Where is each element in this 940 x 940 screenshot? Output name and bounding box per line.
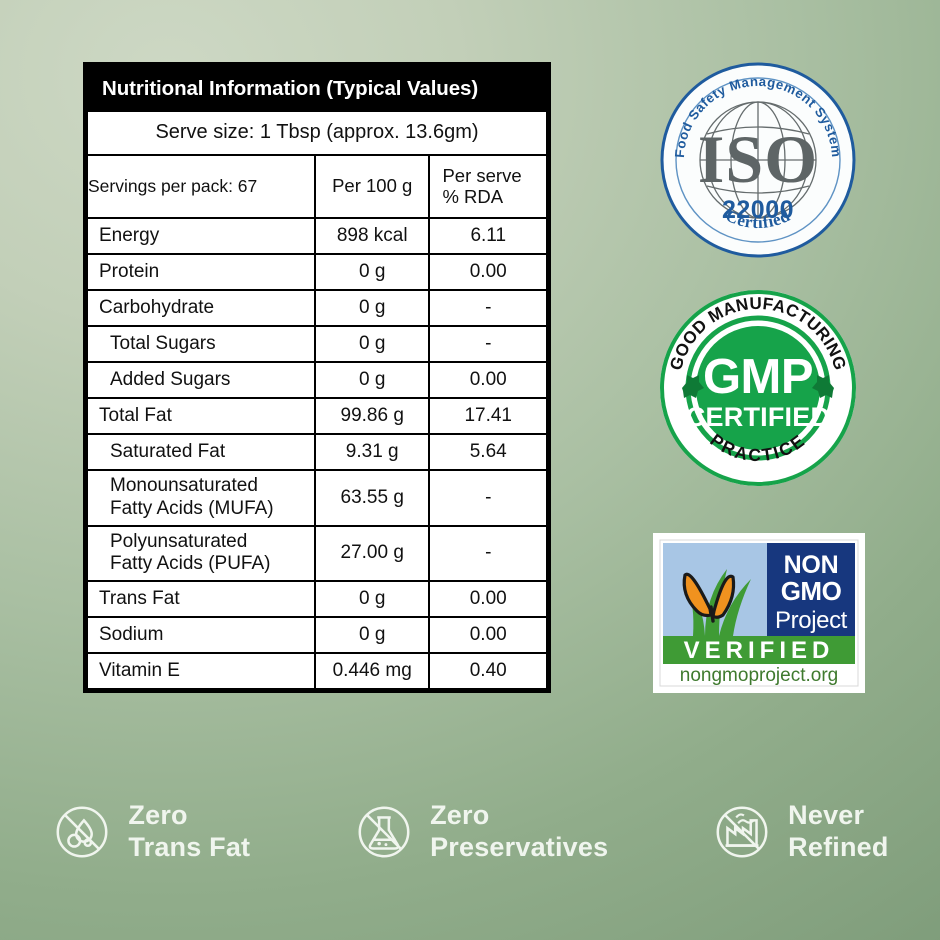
nutrient-per-100g: 9.31 g — [315, 434, 430, 470]
table-row: Sodium0 g0.00 — [88, 617, 546, 653]
nutrient-name: Polyunsaturated Fatty Acids (PUFA) — [88, 526, 315, 582]
nongmo-verified-text: VERIFIED — [684, 637, 835, 664]
nutrient-per-serve-rda: - — [429, 526, 546, 582]
feature-label: Never Refined — [788, 800, 888, 864]
gmp-center-bottom-text: CERTIFIED — [686, 402, 830, 432]
gmp-center-top-text: GMP — [703, 350, 813, 404]
nutrient-per-100g: 27.00 g — [315, 526, 430, 582]
table-row: Total Fat99.86 g17.41 — [88, 398, 546, 434]
nutrient-name: Saturated Fat — [88, 434, 315, 470]
nutrient-per-serve-rda: 5.64 — [429, 434, 546, 470]
feature-zero-trans-fat: Zero Trans Fat — [51, 800, 250, 864]
iso-center-text: ISO — [698, 121, 818, 197]
non-gmo-project-verified-badge: NON GMO Project VERIFIED nongmoproject.o… — [653, 533, 865, 693]
nutrient-per-100g: 0 g — [315, 581, 430, 617]
nutrient-per-100g: 898 kcal — [315, 218, 430, 254]
nutrient-name: Monounsaturated Fatty Acids (MUFA) — [88, 470, 315, 526]
nutrient-name: Vitamin E — [88, 653, 315, 688]
iso-22000-badge: Food Safety Management System ISO 22000 … — [658, 60, 858, 260]
nutrient-per-serve-rda: - — [429, 470, 546, 526]
nutrition-table-body: Servings per pack: 67 Per 100 g Per serv… — [88, 156, 546, 688]
nutrient-per-100g: 0 g — [315, 362, 430, 398]
nutrient-per-100g: 0 g — [315, 326, 430, 362]
nutrition-information-panel: Nutritional Information (Typical Values)… — [83, 62, 551, 693]
table-row: Total Sugars0 g- — [88, 326, 546, 362]
nutrient-per-serve-rda: 0.00 — [429, 617, 546, 653]
nutrient-name: Energy — [88, 218, 315, 254]
nutrient-per-serve-rda: 0.40 — [429, 653, 546, 688]
gmp-certified-badge: GOOD MANUFACTURING PRACTICE GMP CERTIFIE… — [658, 288, 858, 488]
nutrient-name: Sodium — [88, 617, 315, 653]
nongmo-line1: NON — [784, 551, 839, 579]
table-row: Carbohydrate0 g- — [88, 290, 546, 326]
column-header-servings: Servings per pack: 67 — [88, 156, 315, 218]
table-row: Polyunsaturated Fatty Acids (PUFA)27.00 … — [88, 526, 546, 582]
nutrient-name: Carbohydrate — [88, 290, 315, 326]
feature-label: Zero Trans Fat — [128, 800, 250, 864]
feature-zero-preservatives: Zero Preservatives — [353, 800, 608, 864]
feature-never-refined: Never Refined — [711, 800, 888, 864]
feature-label: Zero Preservatives — [430, 800, 608, 864]
table-row: Added Sugars0 g0.00 — [88, 362, 546, 398]
table-row: Trans Fat0 g0.00 — [88, 581, 546, 617]
nutrition-table: Servings per pack: 67 Per 100 g Per serv… — [88, 156, 546, 688]
nutrient-per-100g: 0 g — [315, 617, 430, 653]
nutrient-per-100g: 99.86 g — [315, 398, 430, 434]
nutrient-per-serve-rda: 0.00 — [429, 254, 546, 290]
nutrient-per-100g: 0 g — [315, 254, 430, 290]
nutrient-per-serve-rda: - — [429, 326, 546, 362]
never-refined-icon — [711, 801, 773, 863]
column-header-per-serve-rda: Per serve % RDA — [429, 156, 546, 218]
nutrient-per-100g: 0.446 mg — [315, 653, 430, 688]
nutrient-name: Added Sugars — [88, 362, 315, 398]
table-row: Vitamin E0.446 mg0.40 — [88, 653, 546, 688]
table-header-row: Servings per pack: 67 Per 100 g Per serv… — [88, 156, 546, 218]
nutrient-per-100g: 63.55 g — [315, 470, 430, 526]
nutrient-name: Total Sugars — [88, 326, 315, 362]
nutrient-per-serve-rda: - — [429, 290, 546, 326]
no-trans-fat-icon — [51, 801, 113, 863]
nutrient-per-100g: 0 g — [315, 290, 430, 326]
nutrient-name: Total Fat — [88, 398, 315, 434]
nongmo-line2: GMO — [781, 576, 842, 606]
column-header-per-100g: Per 100 g — [315, 156, 430, 218]
nutrient-per-serve-rda: 17.41 — [429, 398, 546, 434]
nutrient-per-serve-rda: 6.11 — [429, 218, 546, 254]
nutrient-per-serve-rda: 0.00 — [429, 362, 546, 398]
table-row: Saturated Fat9.31 g5.64 — [88, 434, 546, 470]
no-preservatives-icon — [353, 801, 415, 863]
table-row: Protein0 g0.00 — [88, 254, 546, 290]
nongmo-line3: Project — [775, 607, 848, 634]
serve-size-text: Serve size: 1 Tbsp (approx. 13.6gm) — [88, 112, 546, 156]
table-row: Energy898 kcal6.11 — [88, 218, 546, 254]
feature-highlights: Zero Trans Fat Zero Preservatives — [0, 800, 940, 864]
nutrient-per-serve-rda: 0.00 — [429, 581, 546, 617]
nutrient-name: Trans Fat — [88, 581, 315, 617]
nutrient-name: Protein — [88, 254, 315, 290]
page-title: Nutritional Information (Typical Values) — [88, 67, 546, 112]
nongmo-url-text: nongmoproject.org — [680, 665, 838, 686]
table-row: Monounsaturated Fatty Acids (MUFA)63.55 … — [88, 470, 546, 526]
